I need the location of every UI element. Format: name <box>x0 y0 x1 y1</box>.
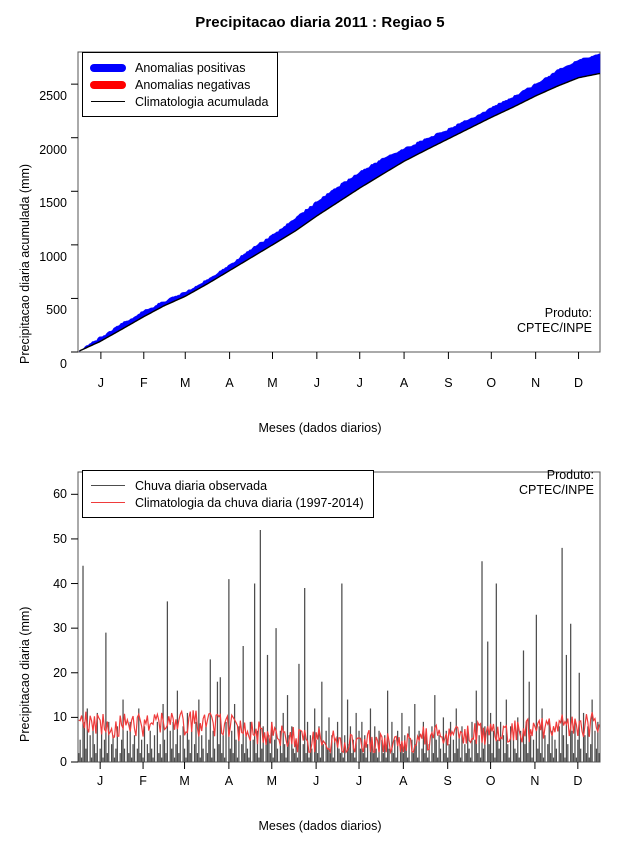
x-tick-label-bottom: D <box>573 774 582 788</box>
x-tick-label-bottom: M <box>267 774 277 788</box>
x-tick-label-top: J <box>357 376 363 390</box>
x-axis-title-bottom: Meses (dados diarios) <box>0 819 640 833</box>
legend-item: Anomalias negativas <box>90 76 268 93</box>
legend-top: Anomalias positivasAnomalias negativasCl… <box>82 52 278 117</box>
x-tick-label-bottom: O <box>486 774 496 788</box>
legend-label: Climatologia da chuva diaria (1997-2014) <box>135 496 364 510</box>
legend-label: Anomalias positivas <box>135 61 245 75</box>
y-tick-label-bottom: 60 <box>53 487 67 501</box>
figure-title: Precipitacao diaria 2011 : Regiao 5 <box>0 14 640 31</box>
x-tick-label-top: F <box>140 376 148 390</box>
y-tick-label-top: 2000 <box>39 143 67 157</box>
panel-daily-precipitation: Precipitacao diaria (mm) Meses (dados di… <box>0 450 640 850</box>
daily-rain-bars <box>79 530 600 762</box>
produto-note-top: Produto: CPTEC/INPE <box>517 306 592 336</box>
x-tick-label-top: N <box>531 376 540 390</box>
x-tick-label-bottom: M <box>179 774 189 788</box>
y-tick-label-bottom: 0 <box>60 755 67 769</box>
x-tick-label-bottom: J <box>356 774 362 788</box>
figure-page: Precipitacao diaria 2011 : Regiao 5 Prec… <box>0 0 640 850</box>
legend-swatch-bar-icon <box>90 61 126 75</box>
legend-item: Climatologia da chuva diaria (1997-2014) <box>90 494 364 511</box>
y-tick-label-top: 1000 <box>39 250 67 264</box>
legend-swatch-line-icon <box>90 95 126 109</box>
y-tick-label-bottom: 10 <box>53 710 67 724</box>
x-tick-label-bottom: A <box>399 774 407 788</box>
x-axis-title-top: Meses (dados diarios) <box>0 421 640 435</box>
x-tick-label-bottom: N <box>530 774 539 788</box>
x-tick-label-bottom: A <box>225 774 233 788</box>
y-axis-title-top: Precipitacao diaria acumulada (mm) <box>18 164 32 364</box>
legend-label: Anomalias negativas <box>135 78 250 92</box>
x-tick-label-top: D <box>574 376 583 390</box>
x-tick-label-top: M <box>180 376 190 390</box>
y-tick-label-bottom: 20 <box>53 666 67 680</box>
x-tick-label-bottom: J <box>313 774 319 788</box>
x-tick-label-bottom: J <box>97 774 103 788</box>
produto-note-bottom: Produto: CPTEC/INPE <box>519 468 594 498</box>
y-tick-label-top: 2500 <box>39 89 67 103</box>
x-tick-label-top: J <box>98 376 104 390</box>
x-tick-label-top: O <box>486 376 496 390</box>
panel-cumulative-precipitation: Precipitacao diaria acumulada (mm) Meses… <box>0 40 640 440</box>
x-tick-label-top: J <box>314 376 320 390</box>
x-tick-label-top: A <box>400 376 408 390</box>
legend-item: Chuva diaria observada <box>90 477 364 494</box>
x-tick-label-top: M <box>267 376 277 390</box>
x-tick-label-bottom: F <box>139 774 147 788</box>
y-tick-label-bottom: 40 <box>53 577 67 591</box>
legend-item: Climatologia acumulada <box>90 93 268 110</box>
legend-bottom: Chuva diaria observadaClimatologia da ch… <box>82 470 374 518</box>
y-tick-label-bottom: 30 <box>53 621 67 635</box>
y-axis-title-bottom: Precipitacao diaria (mm) <box>18 607 32 742</box>
legend-label: Chuva diaria observada <box>135 479 267 493</box>
x-tick-label-top: A <box>225 376 233 390</box>
x-tick-label-top: S <box>444 376 452 390</box>
legend-swatch-line-icon <box>90 479 126 493</box>
legend-label: Climatologia acumulada <box>135 95 268 109</box>
y-tick-label-top: 1500 <box>39 196 67 210</box>
legend-item: Anomalias positivas <box>90 59 268 76</box>
x-tick-label-bottom: S <box>444 774 452 788</box>
legend-swatch-bar-icon <box>90 78 126 92</box>
y-tick-label-bottom: 50 <box>53 532 67 546</box>
y-tick-label-top: 500 <box>46 303 67 317</box>
legend-swatch-line-icon <box>90 496 126 510</box>
y-tick-label-top: 0 <box>60 357 67 371</box>
